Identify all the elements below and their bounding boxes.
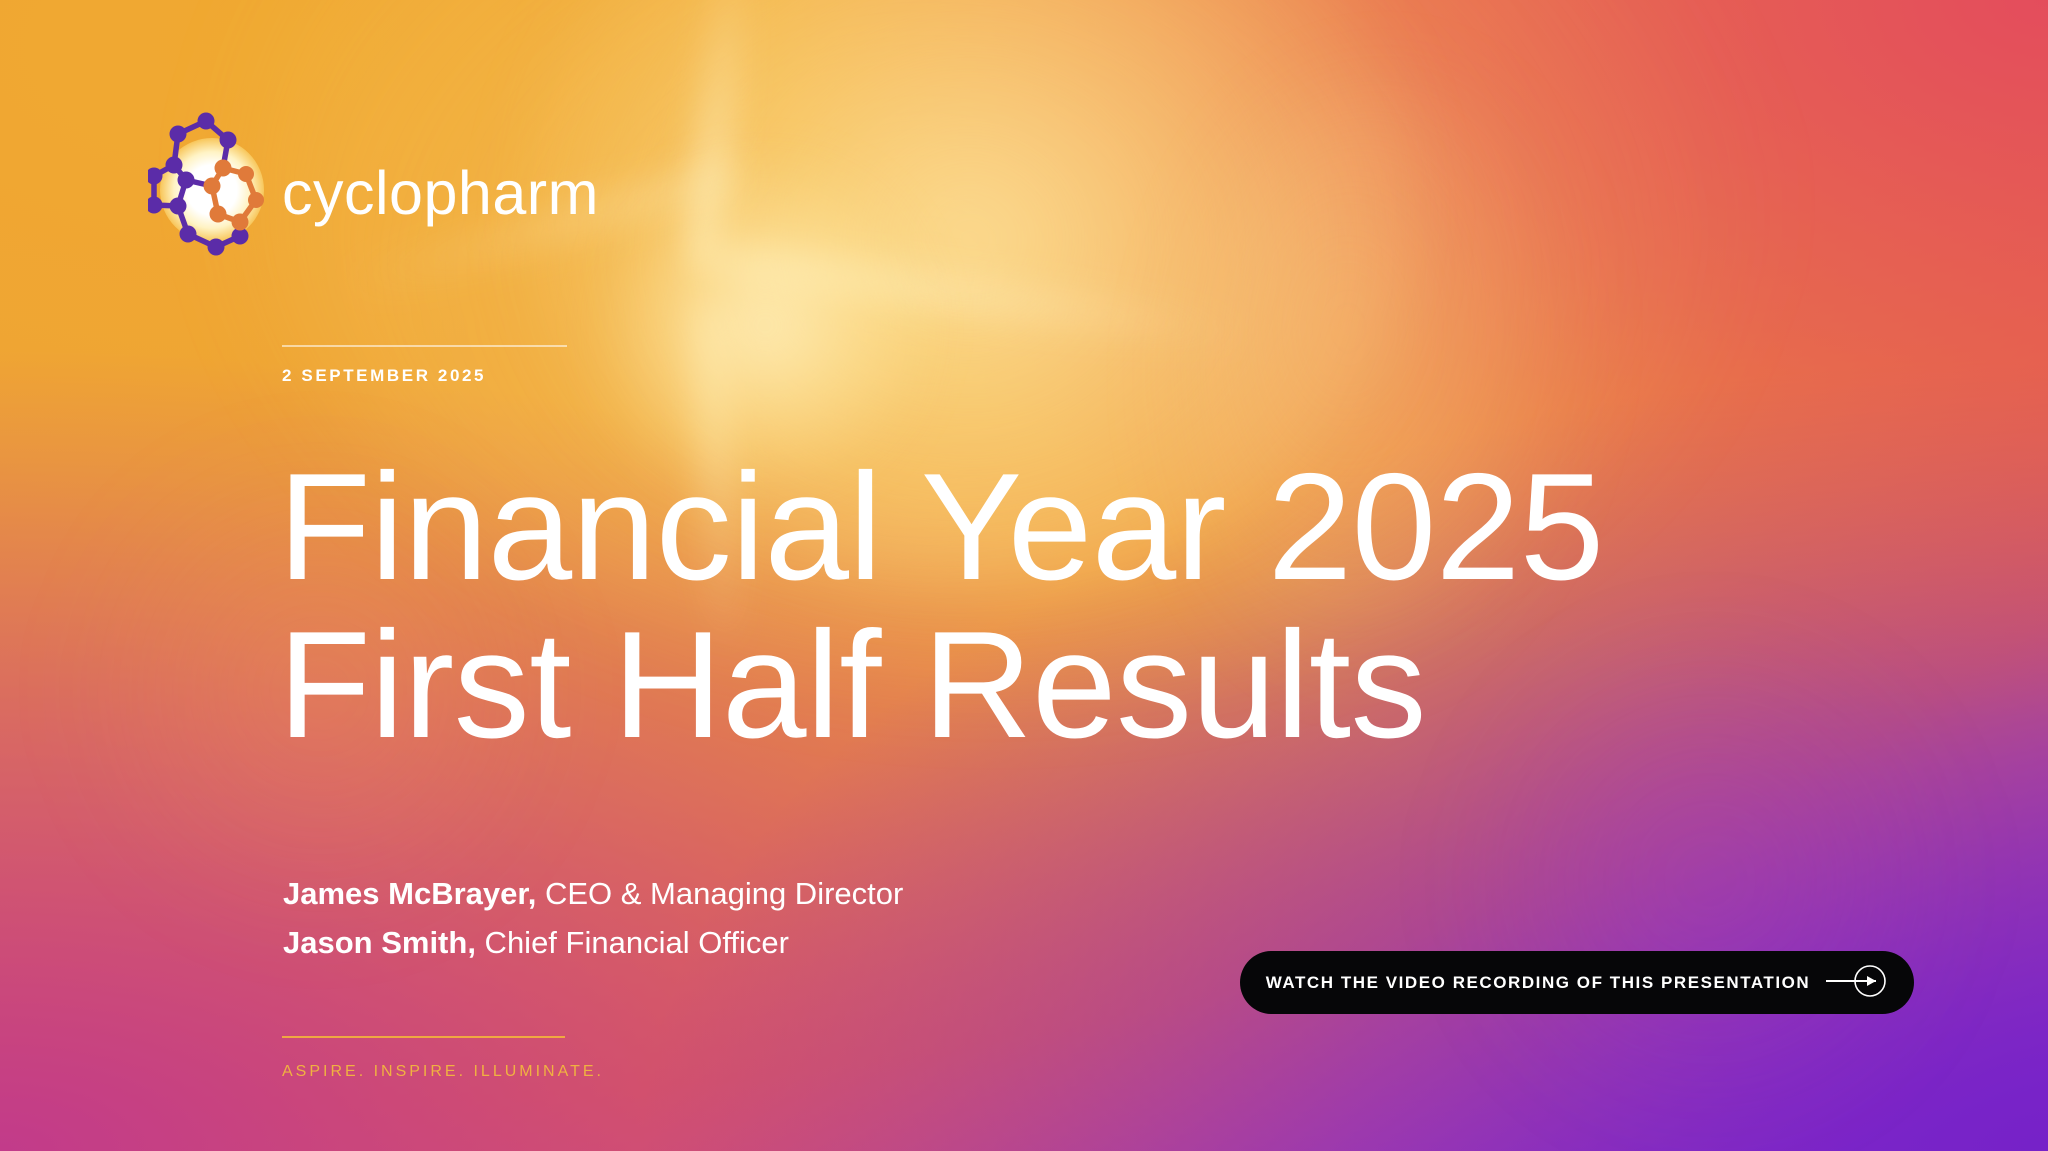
presenter-role: CEO & Managing Director (536, 876, 903, 911)
page-title-line-1: Financial Year 2025 (278, 448, 1918, 606)
background-glow-node (600, 160, 930, 490)
presenter-name: James McBrayer, (283, 876, 536, 911)
presentation-date: 2 SEPTEMBER 2025 (282, 366, 486, 386)
watch-video-button-label: WATCH THE VIDEO RECORDING OF THIS PRESEN… (1266, 973, 1810, 993)
tagline-divider-rule (282, 1036, 565, 1038)
molecule-icon (148, 110, 266, 270)
presentation-slide: cyclopharm 2 SEPTEMBER 2025 Financial Ye… (0, 0, 2048, 1151)
background-ray-right (700, 241, 1259, 353)
brand-tagline: ASPIRE. INSPIRE. ILLUMINATE. (282, 1063, 604, 1081)
brand-logo-lockup: cyclopharm (148, 110, 599, 270)
presenter-row: James McBrayer, CEO & Managing Director (283, 870, 903, 919)
presenter-role: Chief Financial Officer (476, 925, 789, 960)
background-ray-up (683, 0, 753, 271)
presenter-name: Jason Smith, (283, 925, 476, 960)
presenter-list: James McBrayer, CEO & Managing Director … (283, 870, 903, 967)
presenter-row: Jason Smith, Chief Financial Officer (283, 919, 903, 968)
brand-wordmark: cyclopharm (282, 163, 599, 224)
date-divider-rule (282, 345, 567, 347)
page-title-line-2: First Half Results (278, 606, 1918, 764)
page-title: Financial Year 2025 First Half Results (278, 448, 1918, 764)
watch-video-button[interactable]: WATCH THE VIDEO RECORDING OF THIS PRESEN… (1240, 951, 1914, 1014)
arrow-right-circle-icon (1826, 964, 1888, 1001)
